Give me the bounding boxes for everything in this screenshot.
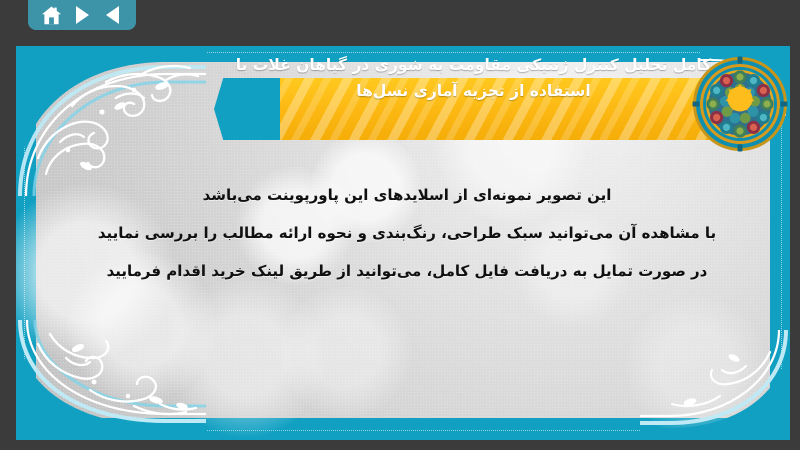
banner-background — [266, 78, 759, 140]
persian-medallion-icon — [692, 56, 788, 152]
body-line-1: این تصویر نمونه‌ای از اسلایدهای این پاور… — [56, 176, 758, 214]
navigation-bar — [28, 0, 136, 30]
forward-triangle-icon — [76, 6, 89, 24]
back-button[interactable] — [102, 4, 124, 26]
forward-button[interactable] — [71, 4, 93, 26]
bokeh-circle — [626, 297, 766, 437]
bokeh-circle — [166, 277, 326, 437]
back-triangle-icon — [106, 6, 119, 24]
slide-viewer: کامل تحلیل کنترل ژنتیکی مقاومت به شوری د… — [0, 0, 800, 450]
bokeh-circle — [281, 287, 411, 417]
banner-tail-arrow — [214, 78, 280, 140]
body-line-2: با مشاهده آن می‌توانید سبک طراحی، رنگ‌بن… — [56, 214, 758, 252]
body-line-3: در صورت تمایل به دریافت فایل کامل، می‌تو… — [56, 252, 758, 290]
slide-body-text: این تصویر نمونه‌ای از اسلایدهای این پاور… — [56, 176, 758, 290]
home-icon — [41, 6, 62, 25]
bottom-backdrop-strip — [0, 440, 800, 450]
home-button[interactable] — [40, 4, 62, 26]
slide-frame: کامل تحلیل کنترل ژنتیکی مقاومت به شوری د… — [16, 46, 790, 440]
title-banner: کامل تحلیل کنترل ژنتیکی مقاومت به شوری د… — [214, 78, 759, 140]
